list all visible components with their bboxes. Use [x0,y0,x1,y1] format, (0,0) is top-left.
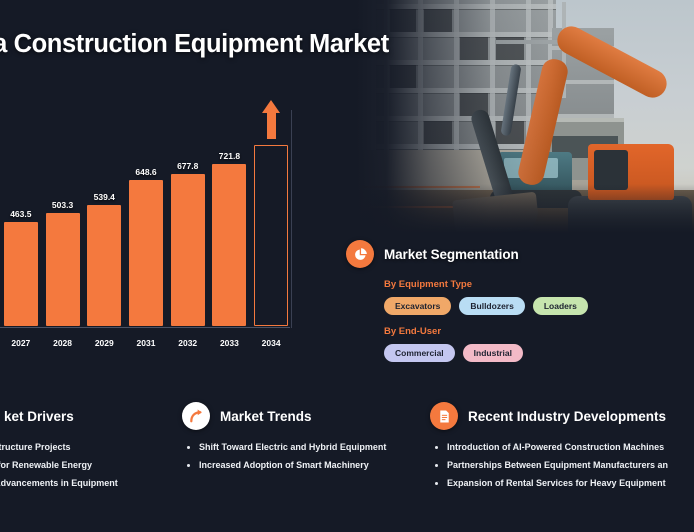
list-item: Shift Toward Electric and Hybrid Equipme… [182,442,422,452]
segmentation-group-label-equipment: By Equipment Type [384,279,676,290]
list-item: n Infrastructure Projects [0,442,176,452]
chart-bar-rect-2028 [46,213,80,326]
chart-bar-2028: 503.3 [46,200,80,326]
chart-bar-rect-2031 [129,180,163,326]
market-drivers-section: ket Drivers n Infrastructure Projects em… [0,400,176,496]
chart-bar-2032: 677.8 [171,161,205,326]
recent-developments-header: Recent Industry Developments [430,400,694,432]
recent-developments-section: Recent Industry Developments Introductio… [430,400,694,496]
segmentation-pills-equipment: Excavators Bulldozers Loaders [384,297,676,315]
segmentation-group-label-enduser: By End-User [384,326,676,337]
chart-x-axis [0,327,290,328]
construction-site-photo [356,0,694,240]
page-title: alia Construction Equipment Market [0,30,389,59]
list-item: Increased Adoption of Smart Machinery [182,460,422,470]
chart-x-tick-2027: 2027 [4,338,38,348]
chart-bar-rect-2033 [212,164,246,326]
list-item: Introduction of AI-Powered Construction … [430,442,694,452]
chart-y-axis [291,110,292,328]
chart-bar-2027: 463.5 [4,209,38,326]
pill-commercial[interactable]: Commercial [384,344,455,362]
recent-developments-list: Introduction of AI-Powered Construction … [430,442,694,488]
market-trends-list: Shift Toward Electric and Hybrid Equipme… [182,442,422,470]
chart-x-tick-2033: 2033 [212,338,246,348]
market-segmentation-panel: Market Segmentation By Equipment Type Ex… [346,240,676,362]
chart-bar-value-2031: 648.6 [135,167,156,177]
market-trends-header: Market Trends [182,400,422,432]
chart-bar-value-2033: 721.8 [219,151,240,161]
chart-bar-rect-2029 [87,205,121,326]
market-forecast-bar-chart: t 463.52027503.32028539.42029648.6203167… [0,92,300,372]
chart-x-tick-2028: 2028 [46,338,80,348]
market-drivers-list: n Infrastructure Projects emand for Rene… [0,442,176,488]
segmentation-pills-enduser: Commercial Industrial [384,344,676,362]
market-trends-title: Market Trends [220,409,312,424]
market-drivers-title: ket Drivers [4,409,74,424]
pie-chart-icon [346,240,374,268]
chart-bar-2031: 648.6 [129,167,163,326]
trend-arrow-icon [182,402,210,430]
chart-x-tick-2034: 2034 [254,338,288,348]
chart-bar-2029: 539.4 [87,192,121,326]
recent-developments-title: Recent Industry Developments [468,409,666,424]
pill-excavators[interactable]: Excavators [384,297,451,315]
chart-bar-value-2028: 503.3 [52,200,73,210]
chart-bar-rect-2032 [171,174,205,326]
list-item: Partnerships Between Equipment Manufactu… [430,460,694,470]
chart-bar-value-2029: 539.4 [94,192,115,202]
bottom-sections: ket Drivers n Infrastructure Projects em… [0,400,694,532]
photo-bottom-gradient-overlay [356,184,694,240]
list-item: ogical Advancements in Equipment [0,478,176,488]
pill-industrial[interactable]: Industrial [463,344,523,362]
chart-growth-arrow-icon [262,100,280,139]
chart-bar-value-2032: 677.8 [177,161,198,171]
market-drivers-header: ket Drivers [0,400,176,432]
segmentation-header: Market Segmentation [346,240,676,268]
chart-x-tick-2029: 2029 [87,338,121,348]
pill-bulldozers[interactable]: Bulldozers [459,297,524,315]
infographic-canvas: alia Construction Equipment Market t 463… [0,0,694,532]
chart-x-tick-2032: 2032 [171,338,205,348]
segmentation-title: Market Segmentation [384,247,519,262]
chart-bar-rect-2034 [254,145,288,326]
chart-bar-rect-2027 [4,222,38,326]
market-trends-section: Market Trends Shift Toward Electric and … [182,400,422,478]
list-item: emand for Renewable Energy [0,460,176,470]
chart-bar-2033: 721.8 [212,151,246,326]
list-item: Expansion of Rental Services for Heavy E… [430,478,694,488]
pill-loaders[interactable]: Loaders [533,297,588,315]
document-icon [430,402,458,430]
chart-x-tick-2031: 2031 [129,338,163,348]
chart-plot-area: 463.52027503.32028539.42029648.62031677.… [0,102,292,350]
chart-bar-value-2027: 463.5 [10,209,31,219]
chart-bar-2034 [254,145,288,326]
